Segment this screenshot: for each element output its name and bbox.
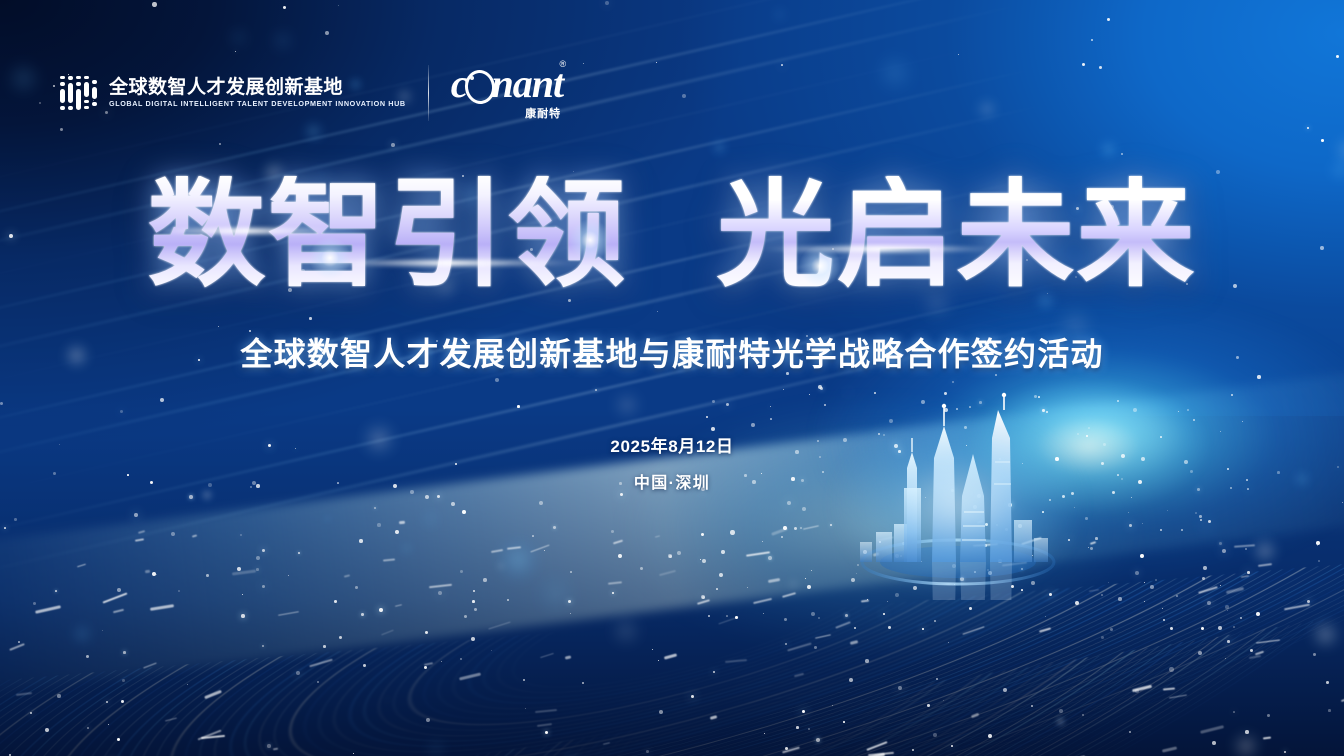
dot-matrix-logo-icon [60,76,97,110]
header-logos: 全球数智人才发展创新基地 GLOBAL DIGITAL INTELLIGENT … [60,64,569,121]
conant-wordmark-post: nant [492,61,564,106]
headline-sparkle-3 [790,236,850,296]
registered-trademark-icon: ® [559,60,565,69]
logo-divider [428,65,429,121]
primary-logo: 全球数智人才发展创新基地 GLOBAL DIGITAL INTELLIGENT … [60,76,406,110]
event-meta: 2025年8月12日 中国·深圳 [0,432,1344,493]
headline-part-2: 光启未来 [716,176,1196,294]
partner-logo: cnant ® 康耐特 [451,64,569,121]
primary-logo-name-en: GLOBAL DIGITAL INTELLIGENT TALENT DEVELO… [109,100,406,107]
headline-part-1: 数智引领 [148,176,628,294]
headline: 数智引领 光启未来 [0,176,1344,294]
event-date: 2025年8月12日 [0,432,1344,457]
partner-logo-name-cn: 康耐特 [451,105,563,121]
subtitle: 全球数智人才发展创新基地与康耐特光学战略合作签约活动 [0,329,1344,375]
shenzhen-skyline-illustration [838,392,1078,600]
event-location: 中国·深圳 [0,469,1344,493]
primary-logo-name-cn: 全球数智人才发展创新基地 [109,78,406,97]
event-poster: 全球数智人才发展创新基地 GLOBAL DIGITAL INTELLIGENT … [0,0,1344,756]
headline-sparkle-2 [560,210,620,270]
conant-wordmark: cnant ® [451,64,563,104]
headline-sparkle-1 [300,228,360,288]
skyline-halo [776,363,1141,633]
